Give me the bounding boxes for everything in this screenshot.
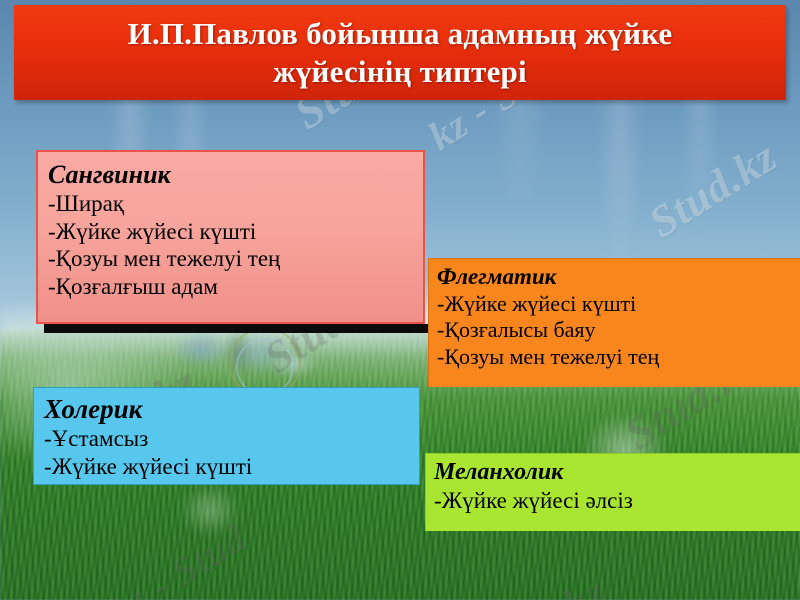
card-sanguine: Сангвиник -Ширақ -Жүйке жүйесі күшті -Қо… [36,150,425,324]
card-melancholic: Меланхолик -Жүйке жүйесі әлсіз [425,453,800,531]
card-phlegmatic-line: -Қозуы мен тежелуі тең [437,344,800,370]
card-choleric-line: -Жүйке жүйесі күшті [44,453,419,481]
card-sanguine-line: -Жүйке жүйесі күшті [48,218,423,246]
card-sanguine-title: Сангвиник [48,161,423,189]
card-sanguine-line: -Қозғалғыш адам [48,273,423,301]
sanguine-card-shadow [44,324,433,333]
card-sanguine-line: -Қозуы мен тежелуі тең [48,245,423,273]
card-sanguine-line: -Ширақ [48,190,423,218]
card-choleric-line: -Ұстамсыз [44,425,419,453]
page-title-line-1: И.П.Павлов бойынша адамның жүйке [128,16,673,51]
card-choleric-title: Холерик [44,395,419,424]
card-melancholic-title: Меланхолик [434,460,800,486]
card-choleric: Холерик -Ұстамсыз -Жүйке жүйесі күшті [33,387,420,485]
card-phlegmatic-title: Флегматик [437,265,800,290]
page-title-line-2: жүйесінің типтері [273,54,527,89]
card-phlegmatic: Флегматик -Жүйке жүйесі күшті -Қозғалысы… [428,258,800,387]
card-phlegmatic-line: -Жүйке жүйесі күшті [437,291,800,317]
card-phlegmatic-line: -Қозғалысы баяу [437,317,800,343]
page-title: И.П.Павлов бойынша адамның жүйке жүйесін… [88,15,713,91]
card-melancholic-line: -Жүйке жүйесі әлсіз [434,487,800,515]
slide-title-banner: И.П.Павлов бойынша адамның жүйке жүйесін… [14,5,786,100]
